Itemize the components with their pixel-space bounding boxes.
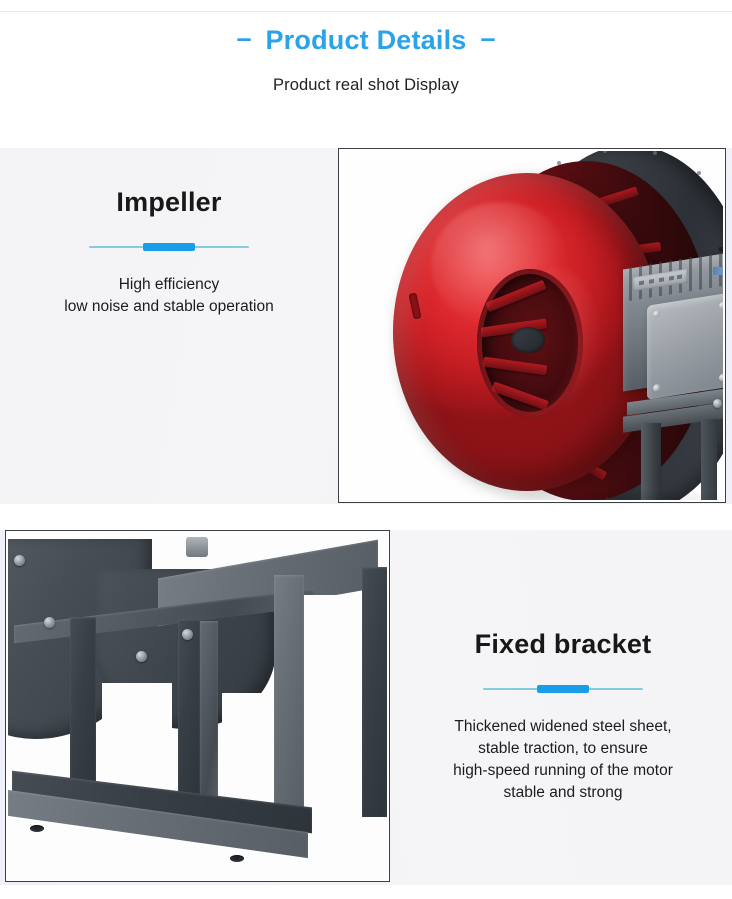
bracket-rivet <box>14 555 25 566</box>
impeller-red-shroud <box>393 173 661 491</box>
title-dash-right-icon: – <box>481 25 496 52</box>
frame-bolt <box>713 399 722 408</box>
bracket-title: Fixed bracket <box>394 630 732 660</box>
bracket-photo <box>5 530 390 882</box>
divider-accent-bar <box>537 685 589 693</box>
top-mount-bolt <box>186 537 208 557</box>
page-header: – Product Details – Product real shot Di… <box>0 20 732 95</box>
bracket-post-front-right <box>274 575 304 819</box>
bracket-post-left <box>70 617 96 797</box>
cable-sleeve <box>713 267 723 275</box>
bracket-desc-line-3: high-speed running of the motor <box>394 760 732 782</box>
top-divider-rule <box>0 11 732 12</box>
bracket-description: Thickened widened steel sheet, stable tr… <box>394 716 732 804</box>
bracket-post-middle-flange <box>200 621 218 799</box>
impeller-title: Impeller <box>0 188 338 218</box>
shroud-balance-notch <box>408 292 421 319</box>
bracket-window-opening <box>102 683 172 799</box>
bracket-window-opening <box>304 595 362 763</box>
bracket-divider <box>483 684 643 694</box>
impeller-text-block: Impeller High efficiency low noise and s… <box>0 188 338 318</box>
impeller-illustration <box>341 151 723 500</box>
frame-leg-rear <box>701 419 717 500</box>
page-subtitle: Product real shot Display <box>0 76 732 95</box>
ground-shadow <box>491 489 723 500</box>
bracket-post-middle <box>178 619 200 801</box>
bracket-post-rear-right <box>362 567 387 817</box>
impeller-desc-line-1: High efficiency <box>0 274 338 296</box>
impeller-photo-inner <box>341 151 723 500</box>
impeller-photo <box>338 148 726 503</box>
bracket-photo-inner <box>8 533 387 879</box>
motor-terminal-box <box>647 292 723 400</box>
page-title-row: – Product Details – <box>0 20 732 60</box>
bracket-mounting-hole <box>230 855 244 862</box>
impeller-desc-line-2: low noise and stable operation <box>0 296 338 318</box>
impeller-description: High efficiency low noise and stable ope… <box>0 274 338 318</box>
impeller-inlet-eye <box>477 269 583 417</box>
bracket-rivet <box>44 617 55 628</box>
bracket-desc-line-1: Thickened widened steel sheet, <box>394 716 732 738</box>
bracket-illustration <box>8 533 387 879</box>
bracket-mounting-hole <box>30 825 44 832</box>
bracket-rivet <box>182 629 193 640</box>
title-dash-left-icon: – <box>236 25 251 52</box>
bracket-rivet <box>136 651 147 662</box>
page-title: Product Details <box>265 27 466 54</box>
product-details-page: – Product Details – Product real shot Di… <box>0 0 732 899</box>
divider-accent-bar <box>143 243 195 251</box>
bracket-window-opening <box>222 693 268 799</box>
impeller-divider <box>89 242 249 252</box>
bracket-desc-line-2: stable traction, to ensure <box>394 738 732 760</box>
bracket-text-block: Fixed bracket Thickened widened steel sh… <box>394 630 732 804</box>
inlet-lip <box>477 269 583 417</box>
bracket-desc-line-4: stable and strong <box>394 782 732 804</box>
